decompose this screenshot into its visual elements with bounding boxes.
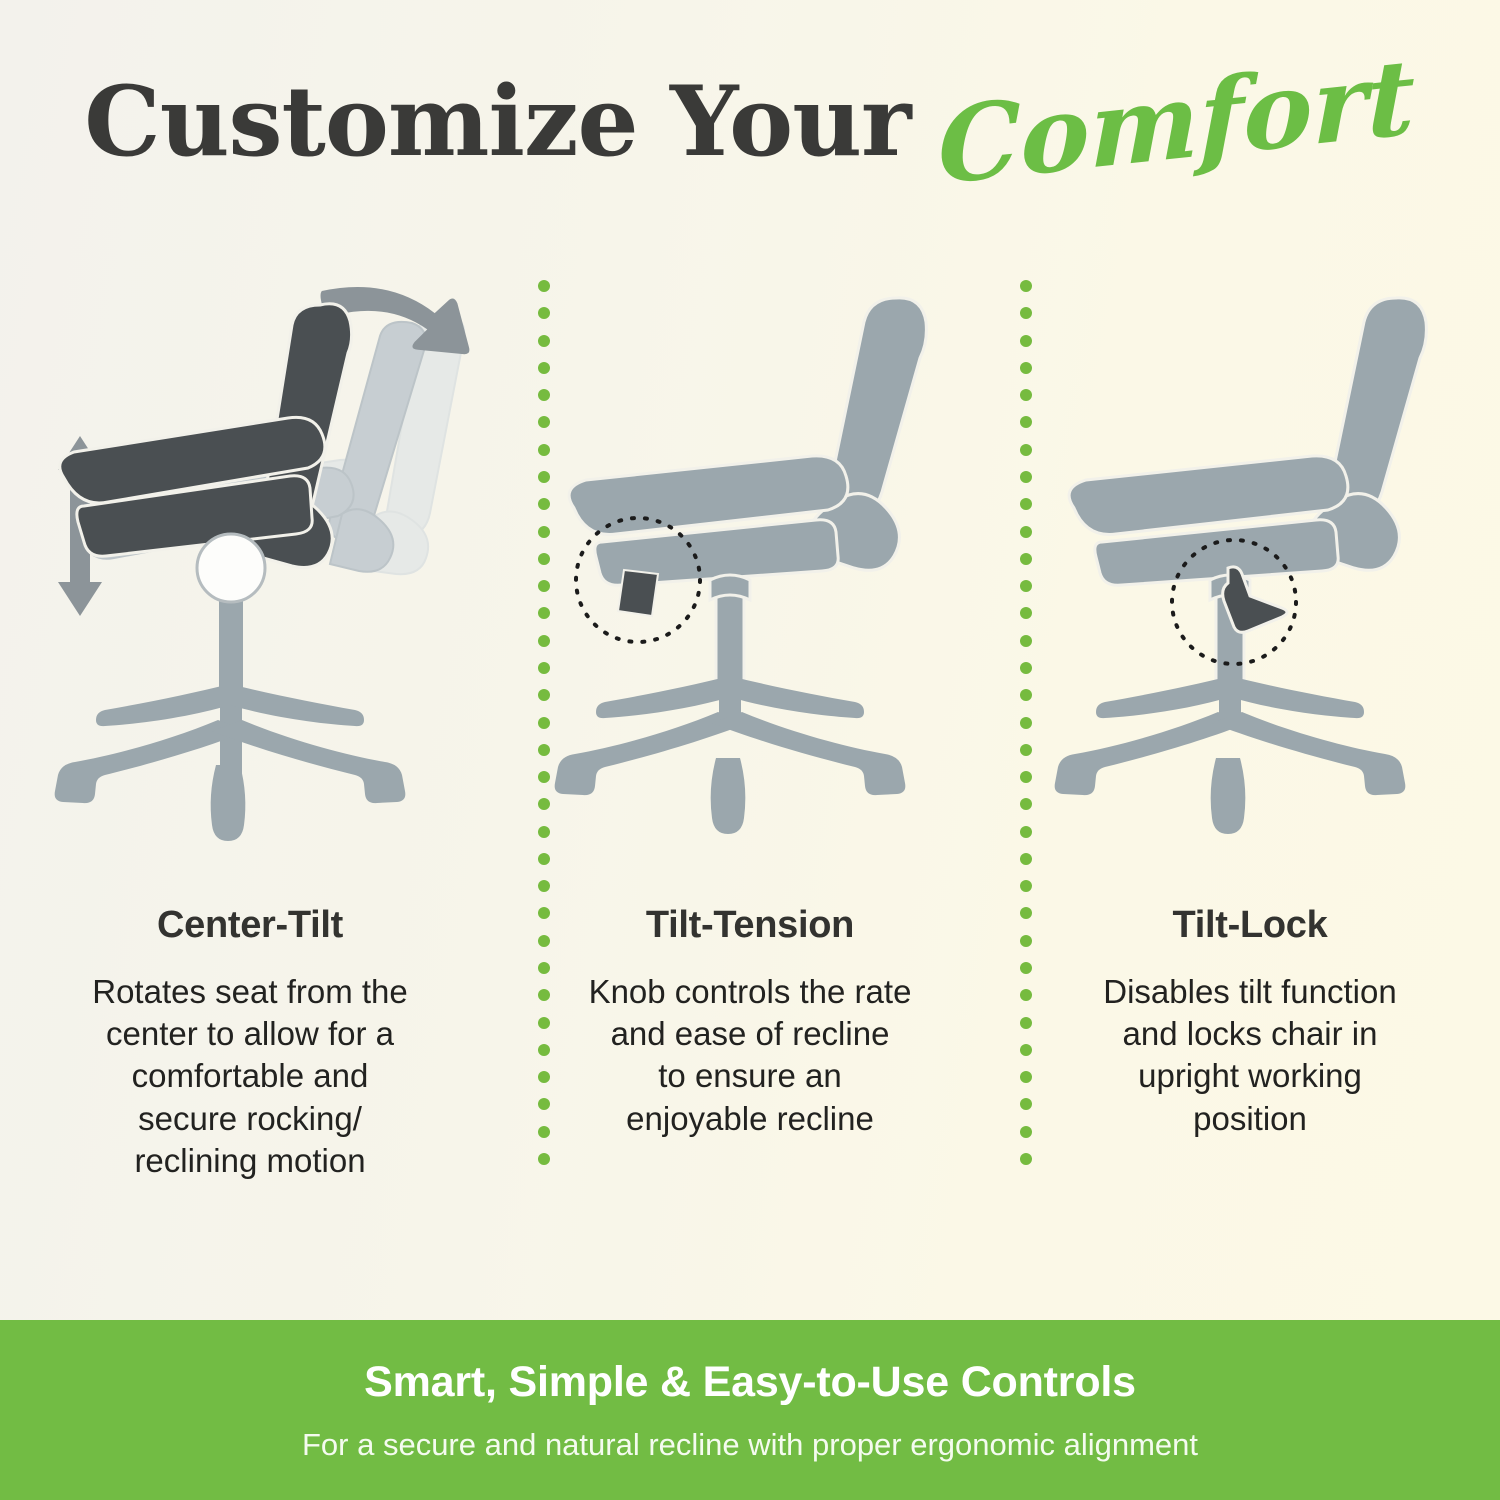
feature-columns: Center-Tilt Rotates seat from the center… <box>0 250 1500 1310</box>
divider-dot <box>1020 335 1032 347</box>
divider-dot <box>1020 471 1032 483</box>
divider-dot <box>1020 935 1032 947</box>
divider-dot <box>538 498 550 510</box>
feature-title-tilt-lock: Tilt-Lock <box>1173 904 1328 947</box>
pivot-point-icon <box>197 534 265 602</box>
chair-tilt-lock-diagram <box>1020 250 1480 890</box>
divider-dot <box>538 1098 550 1110</box>
column-divider-1 <box>538 280 550 1165</box>
footer-banner: Smart, Simple & Easy-to-Use Controls For… <box>0 1320 1500 1500</box>
divider-dot <box>1020 798 1032 810</box>
chair-base-icon <box>55 680 406 841</box>
feature-column-tilt-lock: Tilt-Lock Disables tilt function and loc… <box>1000 250 1500 1310</box>
divider-dot <box>538 826 550 838</box>
chair-dark-body <box>60 304 352 568</box>
feature-description-tilt-tension: Knob controls the rate and ease of recli… <box>565 971 935 1140</box>
divider-dot <box>1020 1017 1032 1029</box>
divider-dot <box>538 362 550 374</box>
chair-base-icon <box>555 675 906 834</box>
divider-dot <box>538 689 550 701</box>
divider-dot <box>538 471 550 483</box>
infographic-page: Customize Your Comfort <box>0 0 1500 1500</box>
divider-dot <box>1020 389 1032 401</box>
divider-dot <box>538 607 550 619</box>
divider-dot <box>538 553 550 565</box>
divider-dot <box>1020 907 1032 919</box>
divider-dot <box>538 280 550 292</box>
divider-dot <box>1020 553 1032 565</box>
divider-dot <box>1020 635 1032 647</box>
divider-dot <box>1020 362 1032 374</box>
divider-dot <box>1020 280 1032 292</box>
divider-dot <box>1020 717 1032 729</box>
divider-dot <box>538 416 550 428</box>
divider-dot <box>538 771 550 783</box>
divider-dot <box>538 962 550 974</box>
chair-center-tilt-diagram <box>20 250 480 890</box>
divider-dot <box>1020 744 1032 756</box>
chair-gray-body <box>569 298 926 682</box>
feature-column-tilt-tension: Tilt-Tension Knob controls the rate and … <box>500 250 1000 1310</box>
divider-dot <box>1020 1153 1032 1165</box>
divider-dot <box>1020 526 1032 538</box>
divider-dot <box>538 580 550 592</box>
divider-dot <box>538 717 550 729</box>
divider-dot <box>538 662 550 674</box>
divider-dot <box>1020 607 1032 619</box>
divider-dot <box>538 444 550 456</box>
divider-dot <box>1020 1071 1032 1083</box>
tension-knob-icon <box>618 570 658 616</box>
divider-dot <box>1020 307 1032 319</box>
feature-description-center-tilt: Rotates seat from the center to allow fo… <box>65 971 435 1182</box>
divider-dot <box>1020 989 1032 1001</box>
feature-title-center-tilt: Center-Tilt <box>157 904 343 947</box>
divider-dot <box>1020 662 1032 674</box>
divider-dot <box>538 798 550 810</box>
divider-dot <box>538 989 550 1001</box>
divider-dot <box>538 907 550 919</box>
divider-dot <box>538 1071 550 1083</box>
divider-dot <box>538 526 550 538</box>
feature-description-tilt-lock: Disables tilt function and locks chair i… <box>1065 971 1435 1140</box>
divider-dot <box>538 1017 550 1029</box>
page-title: Customize Your <box>84 74 910 170</box>
divider-dot <box>538 389 550 401</box>
page-header: Customize Your Comfort <box>0 52 1500 192</box>
divider-dot <box>538 1153 550 1165</box>
divider-dot <box>538 635 550 647</box>
page-title-accent: Comfort <box>938 45 1415 200</box>
feature-title-tilt-tension: Tilt-Tension <box>646 904 854 947</box>
divider-dot <box>538 307 550 319</box>
footer-title: Smart, Simple & Easy-to-Use Controls <box>364 1358 1136 1407</box>
footer-subtitle: For a secure and natural recline with pr… <box>302 1427 1198 1463</box>
divider-dot <box>1020 1044 1032 1056</box>
divider-dot <box>538 880 550 892</box>
divider-dot <box>1020 1098 1032 1110</box>
divider-dot <box>1020 1126 1032 1138</box>
chair-base-icon <box>1055 675 1406 834</box>
divider-dot <box>1020 416 1032 428</box>
divider-dot <box>538 744 550 756</box>
column-divider-2 <box>1020 280 1032 1165</box>
divider-dot <box>1020 962 1032 974</box>
divider-dot <box>538 1044 550 1056</box>
divider-dot <box>1020 880 1032 892</box>
divider-dot <box>538 853 550 865</box>
divider-dot <box>1020 580 1032 592</box>
divider-dot <box>538 1126 550 1138</box>
divider-dot <box>1020 444 1032 456</box>
divider-dot <box>1020 498 1032 510</box>
chair-tilt-tension-diagram <box>520 250 980 890</box>
divider-dot <box>538 935 550 947</box>
divider-dot <box>1020 826 1032 838</box>
divider-dot <box>1020 689 1032 701</box>
divider-dot <box>1020 853 1032 865</box>
divider-dot <box>1020 771 1032 783</box>
feature-column-center-tilt: Center-Tilt Rotates seat from the center… <box>0 250 500 1310</box>
divider-dot <box>538 335 550 347</box>
